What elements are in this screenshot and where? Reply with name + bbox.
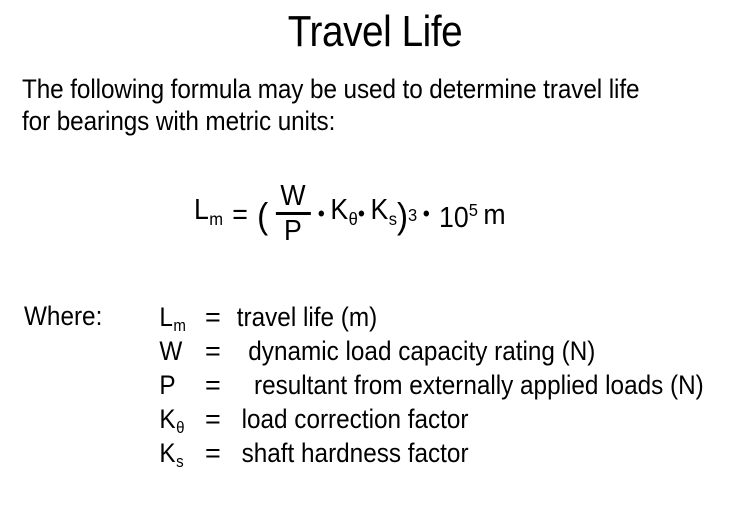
definition-equals: = [205,436,229,470]
formula-factor2-base: K [370,194,388,226]
definition-description: dynamic load capacity rating (N) [248,334,595,368]
formula-lhs: Lm [194,193,223,236]
formula-multiply-dot: • [358,203,365,225]
formula-factor1-subscript: θ [348,202,358,236]
formula-factor1-base: K [330,194,348,226]
formula-numerator: W [280,181,305,211]
definition-symbol-base: P [159,370,175,400]
definition-symbol-base: K [159,438,175,468]
formula-close-paren: ) [397,201,408,231]
travel-life-formula: Lm = ( W P • Kθ • Ks ) 3 • 105 m [194,182,506,247]
page-title: Travel Life [45,6,705,58]
definitions-list: Lm = travel life (m) W = dynamic load ca… [157,300,729,470]
definition-row: W = dynamic load capacity rating (N) [157,334,729,368]
formula-factor-k-s: Ks [370,193,397,236]
formula-denominator: P [284,216,302,246]
intro-paragraph: The following formula may be used to det… [22,73,679,137]
definition-symbol-base: W [159,336,182,366]
definition-symbol-base: K [159,404,175,434]
definition-row: Kθ = load correction factor [157,402,729,436]
definition-description: travel life (m) [237,300,377,334]
definition-description: resultant from externally applied loads … [254,368,704,402]
formula-factor2-subscript: s [388,202,397,236]
definition-symbol: P [159,368,202,402]
formula-power-term: 105 [439,193,478,235]
formula-exponent: 3 [408,198,417,232]
definition-equals: = [205,402,229,436]
formula-power-exponent: 5 [469,193,478,227]
formula-lhs-subscript: m [209,202,223,236]
formula-multiply-dot: • [318,203,325,225]
definition-symbol-subscript: s [176,445,184,479]
definition-row: P = resultant from externally applied lo… [157,368,729,402]
where-label: Where: [24,300,102,332]
definition-equals: = [205,334,229,368]
formula-open-paren: ( [257,201,268,231]
definition-equals: = [205,300,229,334]
definition-description: load correction factor [242,402,469,436]
definition-description: shaft hardness factor [242,436,469,470]
definition-row: Lm = travel life (m) [157,300,729,334]
formula-power-base: 10 [439,203,469,235]
definition-row: Ks = shaft hardness factor [157,436,729,470]
formula-factor-k-theta: Kθ [330,193,357,236]
formula-unit: m [483,198,505,232]
formula-fraction: W P [275,181,310,246]
definition-symbol: W [159,334,202,368]
definition-symbol-base: L [159,302,173,332]
formula-lhs-base: L [194,194,209,226]
intro-line: The following formula may be used to det… [22,73,679,105]
formula-equals: = [232,198,248,232]
definition-symbol: Ks [159,436,202,479]
definition-equals: = [205,368,229,402]
formula-multiply-dot: • [423,203,430,225]
document-page: Travel Life The following formula may be… [0,0,750,508]
intro-line: for bearings with metric units: [22,105,679,137]
